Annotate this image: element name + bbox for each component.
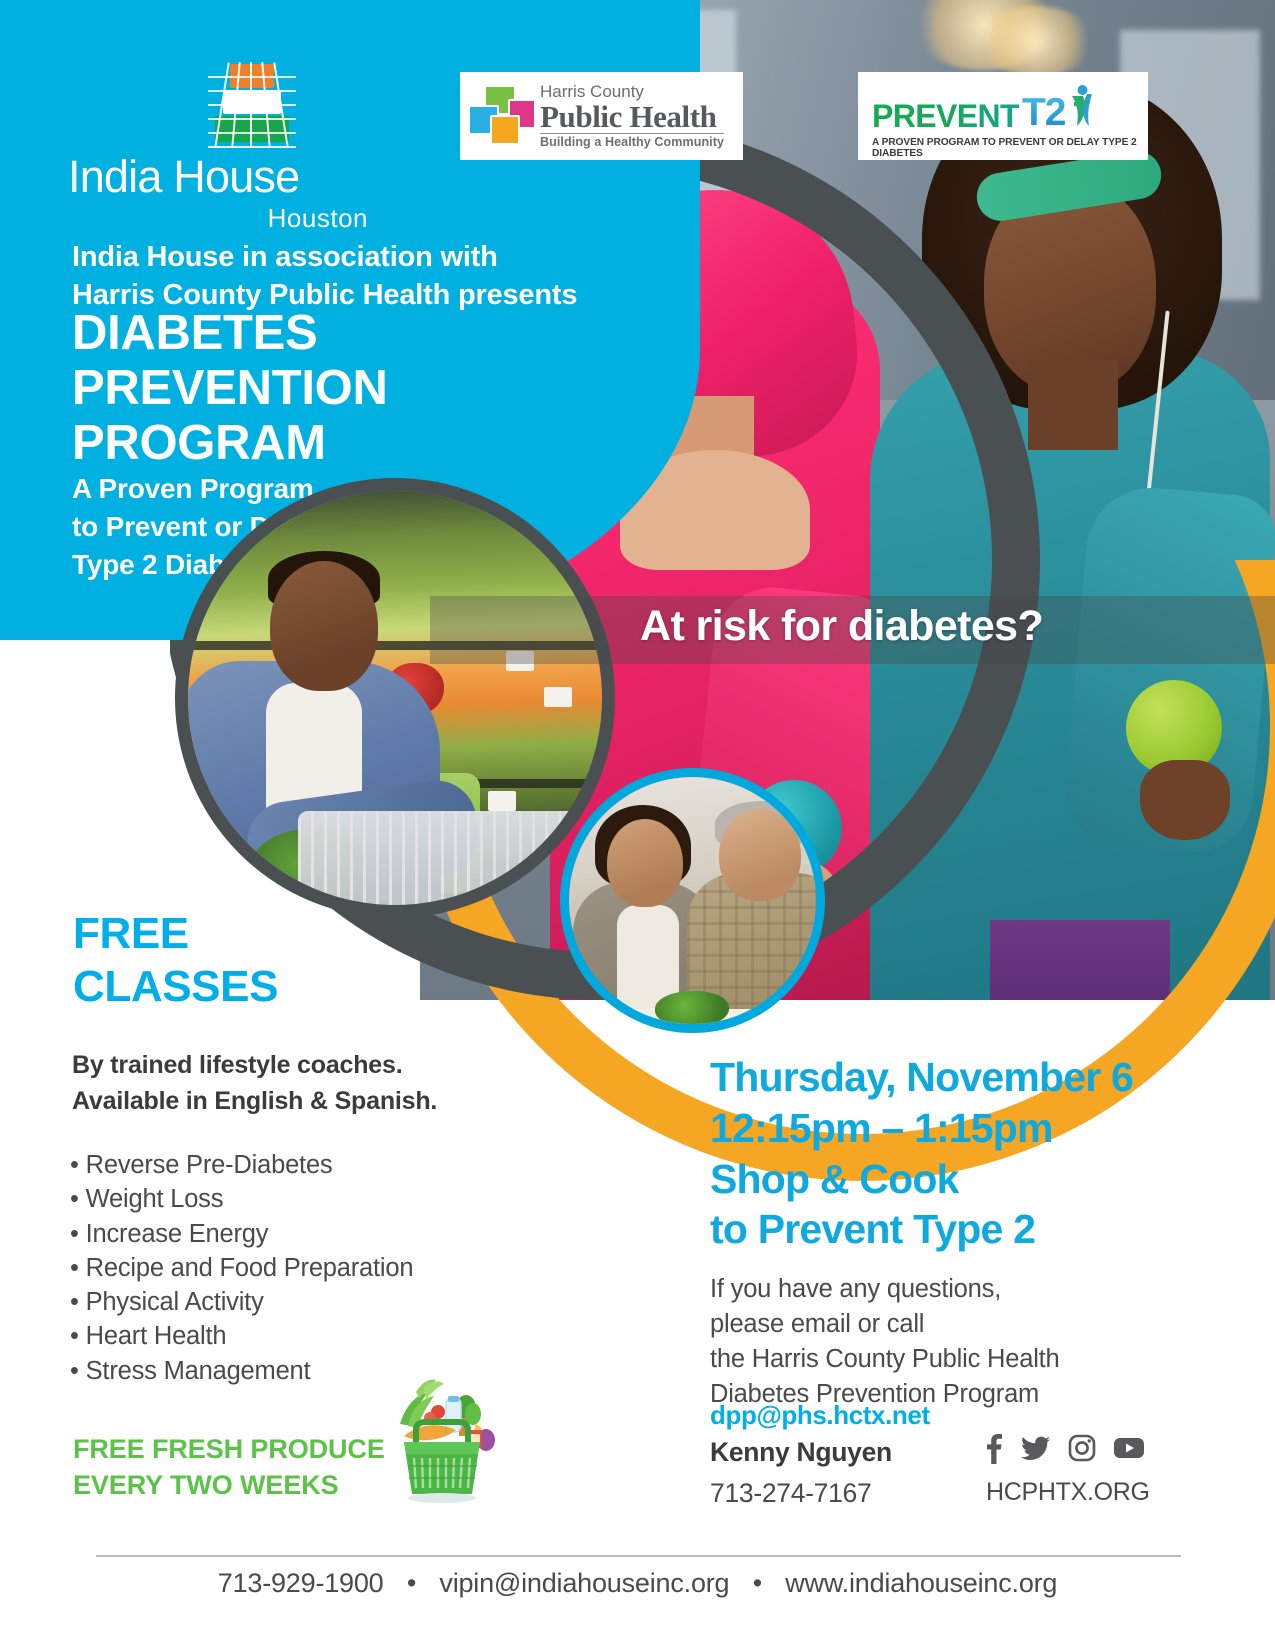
questions-line-1: If you have any questions, bbox=[710, 1272, 1060, 1307]
youtube-icon[interactable] bbox=[1113, 1436, 1145, 1460]
footer-email[interactable]: vipin@indiahouseinc.org bbox=[439, 1568, 729, 1598]
hcph-line-2: Public Health bbox=[540, 101, 724, 132]
india-house-logo: India House Houston bbox=[68, 62, 378, 234]
footer-phone: 713-929-1900 bbox=[218, 1568, 384, 1598]
coaches-line-2: Available in English & Spanish. bbox=[72, 1084, 437, 1120]
contact-email-link[interactable]: dpp@phs.hctx.net bbox=[710, 1400, 930, 1431]
flyer-page: India House Houston Harris County Public… bbox=[0, 0, 1275, 1650]
footer-separator: • bbox=[737, 1568, 778, 1598]
free-classes-line-1: FREE bbox=[73, 908, 278, 961]
social-links bbox=[984, 1432, 1145, 1464]
hcph-tagline: Building a Healthy Community bbox=[540, 133, 724, 149]
list-item: Stress Management bbox=[70, 1354, 413, 1388]
event-details: Thursday, November 6 12:15pm – 1:15pm Sh… bbox=[710, 1052, 1133, 1255]
event-date: Thursday, November 6 bbox=[710, 1052, 1133, 1103]
twitter-icon[interactable] bbox=[1021, 1434, 1051, 1462]
prevent-t2-mark: T2 bbox=[1022, 91, 1066, 135]
list-item: Reverse Pre-Diabetes bbox=[70, 1148, 413, 1182]
hcph-website[interactable]: HCPHTX.ORG bbox=[986, 1478, 1150, 1507]
instagram-icon[interactable] bbox=[1068, 1434, 1096, 1462]
event-topic-line-2: to Prevent Type 2 bbox=[710, 1204, 1133, 1255]
free-classes-line-2: CLASSES bbox=[73, 961, 278, 1014]
grocery-basket-icon bbox=[382, 1368, 502, 1508]
free-produce-text: FREE FRESH PRODUCE EVERY TWO WEEKS bbox=[73, 1432, 385, 1503]
india-house-kite-mark-icon bbox=[204, 62, 300, 148]
footer: 713-929-1900 • vipin@indiahouseinc.org •… bbox=[0, 1568, 1275, 1599]
couple-cooking-photo bbox=[560, 768, 825, 1033]
coaches-line-1: By trained lifestyle coaches. bbox=[72, 1048, 437, 1084]
list-item: Weight Loss bbox=[70, 1182, 413, 1216]
questions-text: If you have any questions, please email … bbox=[710, 1272, 1060, 1412]
contact-person-name: Kenny Nguyen bbox=[710, 1437, 892, 1468]
woman-teal-jacket bbox=[850, 60, 1270, 1000]
prevent-t2-tagline: A PROVEN PROGRAM TO PREVENT OR DELAY TYP… bbox=[872, 137, 1138, 159]
title-line-3: PROGRAM bbox=[72, 416, 388, 471]
lead-line-1: India House in association with bbox=[72, 238, 577, 276]
footer-website[interactable]: www.indiahouseinc.org bbox=[785, 1568, 1057, 1598]
footer-separator: • bbox=[391, 1568, 432, 1598]
man-shopping-produce-photo bbox=[175, 478, 615, 918]
footer-divider bbox=[96, 1555, 1181, 1557]
coaches-text: By trained lifestyle coaches. Available … bbox=[72, 1048, 437, 1119]
page-title: DIABETES PREVENTION PROGRAM bbox=[72, 306, 388, 471]
list-item: Recipe and Food Preparation bbox=[70, 1251, 413, 1285]
list-item: Heart Health bbox=[70, 1319, 413, 1353]
lead-text: India House in association with Harris C… bbox=[72, 238, 577, 315]
harris-county-public-health-logo: Harris County Public Health Building a H… bbox=[460, 72, 743, 160]
title-line-1: DIABETES bbox=[72, 306, 388, 361]
title-line-2: PREVENTION bbox=[72, 361, 388, 416]
list-item: Physical Activity bbox=[70, 1285, 413, 1319]
at-risk-banner-text: At risk for diabetes? bbox=[640, 602, 1043, 651]
active-person-figure-icon bbox=[1069, 82, 1095, 133]
prevent-t2-logo: PREVENT T2 A PROVEN PROGRAM TO PREVENT O… bbox=[858, 72, 1148, 160]
free-classes-heading: FREE CLASSES bbox=[73, 908, 278, 1014]
free-produce-line-2: EVERY TWO WEEKS bbox=[73, 1468, 385, 1504]
benefits-list: Reverse Pre-Diabetes Weight Loss Increas… bbox=[70, 1148, 413, 1388]
facebook-icon[interactable] bbox=[984, 1432, 1004, 1464]
questions-line-2: please email or call bbox=[710, 1307, 1060, 1342]
four-squares-icon bbox=[468, 85, 534, 147]
event-topic-line-1: Shop & Cook bbox=[710, 1154, 1133, 1205]
india-house-city: Houston bbox=[68, 203, 378, 234]
prevent-t2-word: PREVENT bbox=[872, 98, 1019, 135]
questions-line-3: the Harris County Public Health bbox=[710, 1342, 1060, 1377]
free-produce-line-1: FREE FRESH PRODUCE bbox=[73, 1432, 385, 1468]
event-time: 12:15pm – 1:15pm bbox=[710, 1103, 1133, 1154]
india-house-name: India House bbox=[68, 154, 378, 199]
contact-phone: 713-274-7167 bbox=[710, 1478, 871, 1509]
list-item: Increase Energy bbox=[70, 1217, 413, 1251]
